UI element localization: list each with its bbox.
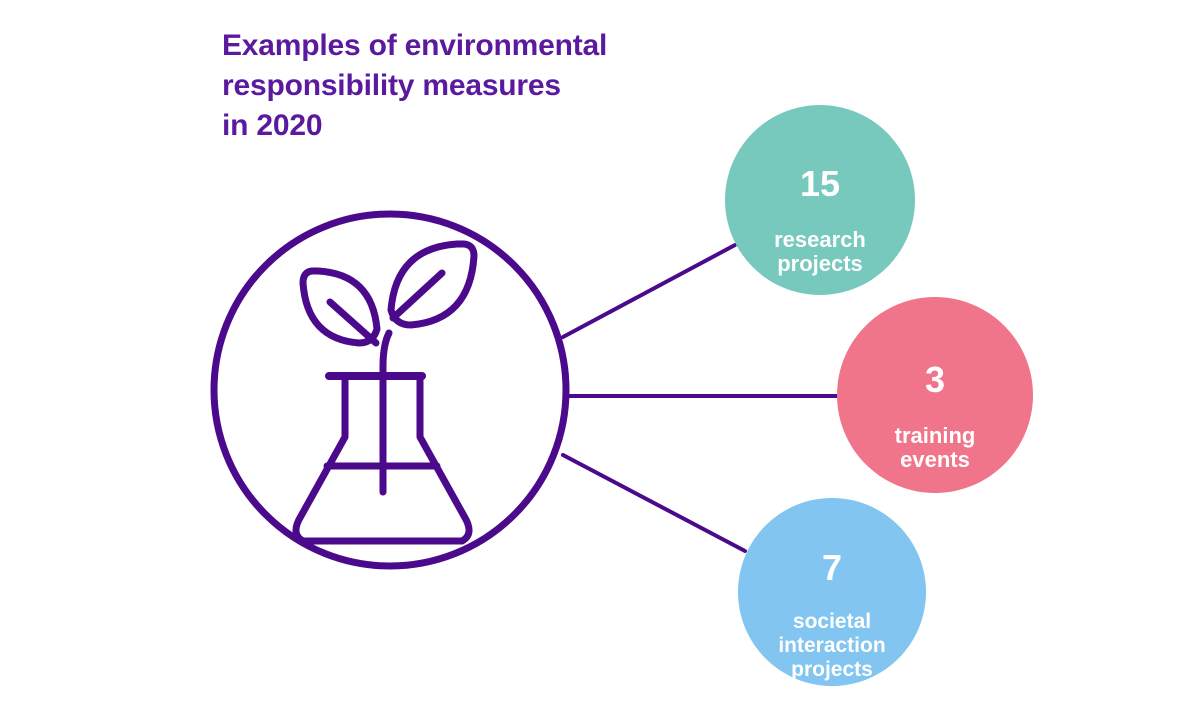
bubble-training[interactable] bbox=[837, 297, 1033, 493]
flask-with-sprout-icon bbox=[214, 214, 566, 566]
connector-to-societal bbox=[563, 455, 745, 551]
bubble-societal[interactable] bbox=[738, 498, 926, 686]
page-title: Examples of environmental responsibility… bbox=[222, 26, 742, 146]
infographic-root: Examples of environmental responsibility… bbox=[0, 0, 1200, 725]
icon-outer-circle bbox=[214, 214, 566, 566]
bubble-research[interactable] bbox=[725, 105, 915, 295]
connector-to-research bbox=[563, 245, 735, 337]
